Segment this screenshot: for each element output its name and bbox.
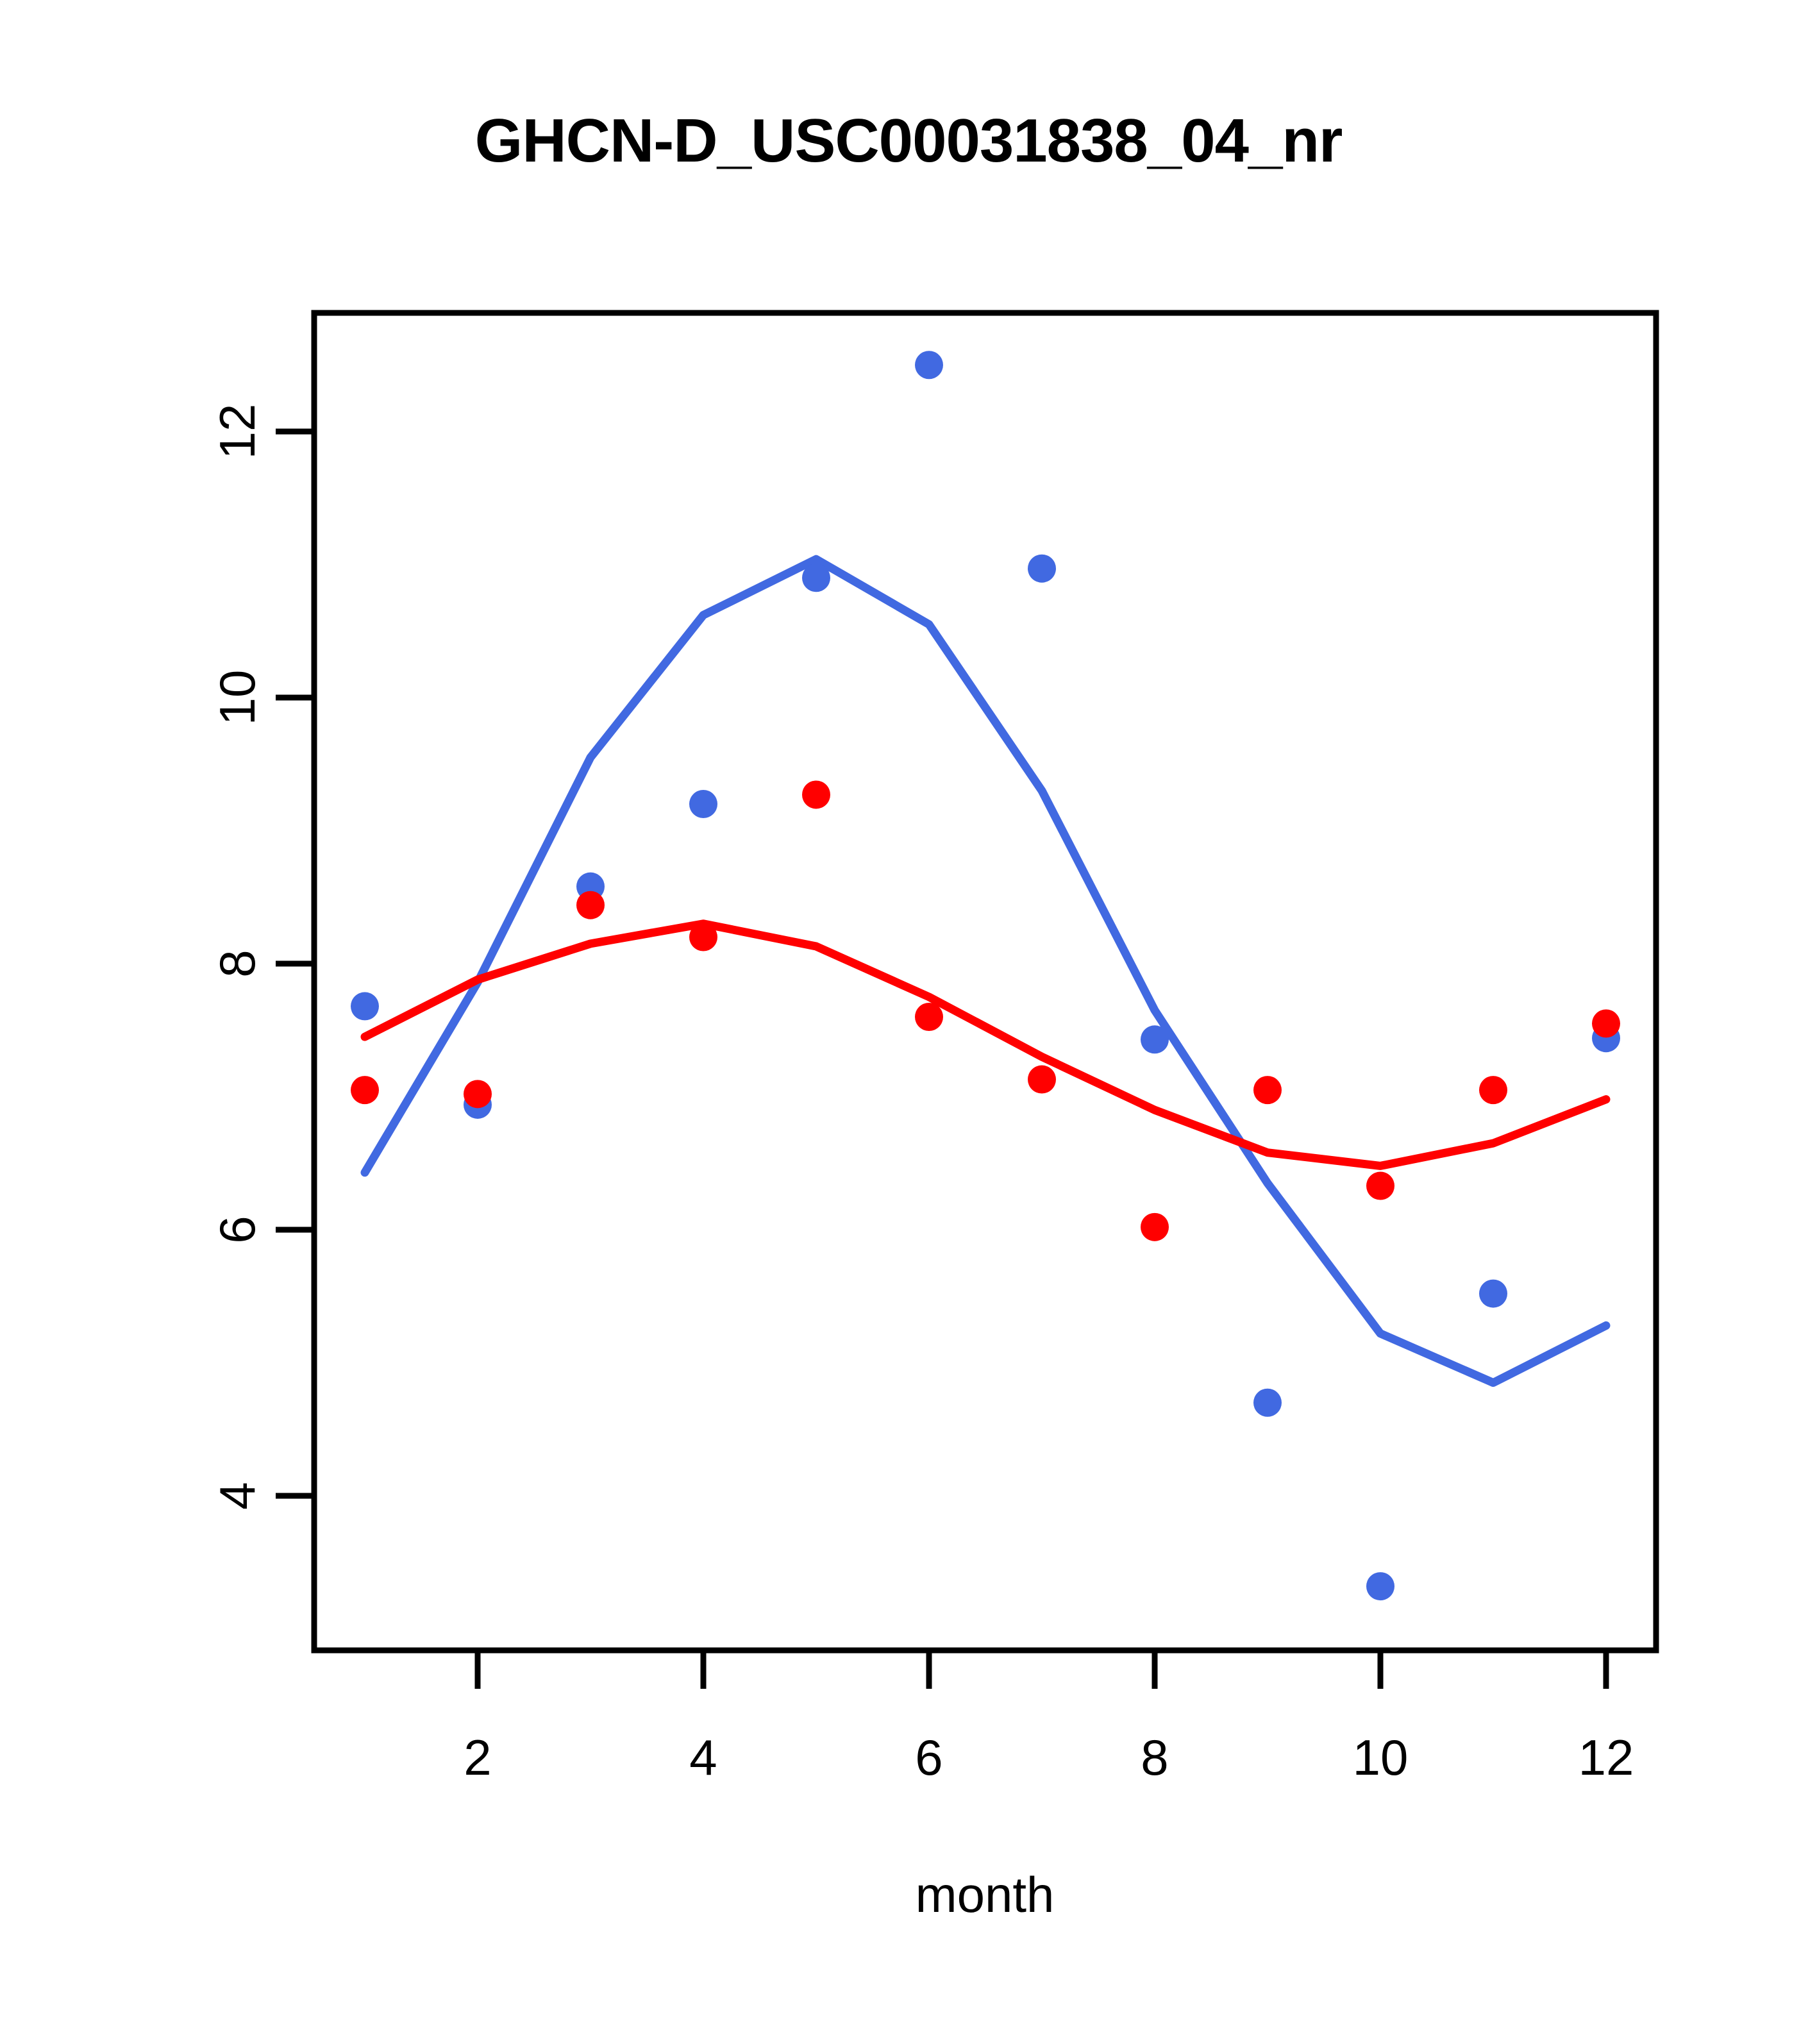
data-point-red-points bbox=[1141, 1213, 1169, 1241]
y-tick-label: 4 bbox=[209, 1482, 265, 1509]
data-point-red-points bbox=[689, 923, 717, 951]
data-point-red-points bbox=[915, 1003, 943, 1031]
series-line-red-line bbox=[365, 924, 1606, 1166]
data-point-red-points bbox=[576, 891, 605, 919]
x-axis-tick-labels: 24681012 bbox=[464, 1729, 1634, 1786]
data-point-red-points bbox=[1366, 1172, 1394, 1200]
data-point-blue-points bbox=[1479, 1280, 1507, 1308]
data-point-red-points bbox=[351, 1076, 379, 1104]
plot-frame bbox=[314, 313, 1656, 1650]
data-point-red-points bbox=[1592, 1009, 1620, 1037]
x-tick-label: 2 bbox=[464, 1729, 491, 1786]
data-point-blue-points bbox=[689, 790, 717, 818]
plot-canvas: 4681012 24681012 month bbox=[0, 0, 1817, 2044]
y-axis-tick-labels: 4681012 bbox=[209, 404, 265, 1510]
data-point-blue-points bbox=[915, 351, 943, 379]
y-tick-label: 6 bbox=[209, 1216, 265, 1243]
x-axis-ticks bbox=[478, 1650, 1606, 1689]
data-point-blue-points bbox=[1253, 1389, 1282, 1417]
data-point-blue-points bbox=[1028, 555, 1056, 583]
series-line-blue-line bbox=[365, 559, 1606, 1382]
series-points bbox=[351, 351, 1620, 1600]
x-tick-label: 4 bbox=[689, 1729, 717, 1786]
data-point-blue-points bbox=[802, 564, 830, 592]
x-tick-label: 12 bbox=[1578, 1729, 1634, 1786]
figure-root: GHCN-D_USC00031838_04_nr 4681012 2468101… bbox=[0, 0, 1817, 2044]
data-point-red-points bbox=[1479, 1076, 1507, 1104]
data-point-blue-points bbox=[351, 992, 379, 1020]
x-tick-label: 6 bbox=[915, 1729, 942, 1786]
data-point-red-points bbox=[464, 1080, 492, 1108]
x-tick-label: 10 bbox=[1353, 1729, 1409, 1786]
y-axis-ticks bbox=[276, 431, 314, 1496]
data-point-red-points bbox=[1028, 1066, 1056, 1094]
data-point-blue-points bbox=[1366, 1572, 1394, 1600]
series-lines bbox=[365, 559, 1606, 1382]
data-point-red-points bbox=[802, 780, 830, 808]
y-tick-label: 10 bbox=[209, 670, 265, 726]
x-tick-label: 8 bbox=[1141, 1729, 1168, 1786]
data-point-blue-points bbox=[1141, 1025, 1169, 1053]
x-axis-title: month bbox=[916, 1866, 1055, 1923]
data-point-red-points bbox=[1253, 1076, 1282, 1104]
y-tick-label: 12 bbox=[209, 404, 265, 460]
y-tick-label: 8 bbox=[209, 950, 265, 977]
